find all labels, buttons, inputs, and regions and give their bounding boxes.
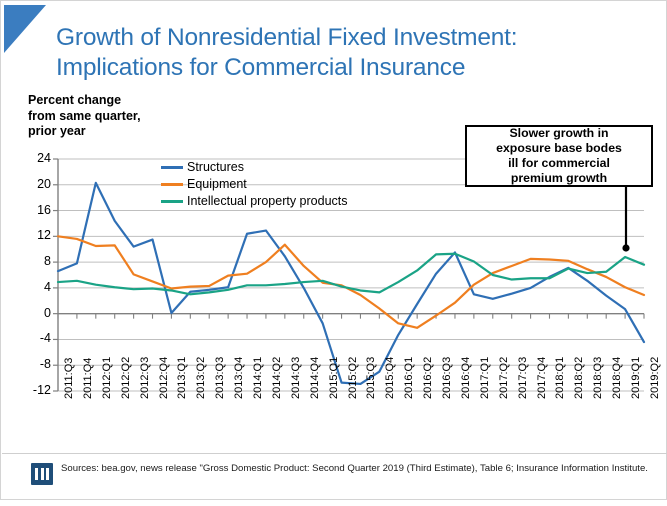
x-tick-label: 2018:Q2 bbox=[573, 357, 585, 399]
x-tick-label: 2018:Q3 bbox=[592, 357, 604, 399]
callout-text: Slower growth in exposure base bodes ill… bbox=[496, 126, 622, 186]
x-tick-label: 2015:Q1 bbox=[328, 357, 340, 399]
x-tick-label: 2018:Q1 bbox=[554, 357, 566, 399]
footer: Sources: bea.gov, news release "Gross Do… bbox=[31, 463, 651, 485]
x-tick-label: 2012:Q1 bbox=[101, 357, 113, 399]
x-tick-label: 2015:Q2 bbox=[347, 357, 359, 399]
line-chart: 24201612840-4-8-12 2011:Q32011:Q42012:Q1… bbox=[1, 1, 667, 501]
x-tick-label: 2017:Q4 bbox=[536, 357, 548, 399]
y-tick-label: 8 bbox=[23, 254, 51, 268]
legend-color-swatch bbox=[161, 166, 183, 169]
legend-color-swatch bbox=[161, 183, 183, 186]
legend-item[interactable]: Structures bbox=[161, 159, 348, 175]
x-tick-label: 2012:Q3 bbox=[139, 357, 151, 399]
x-tick-label: 2017:Q2 bbox=[498, 357, 510, 399]
x-tick-label: 2011:Q3 bbox=[63, 358, 75, 399]
x-tick-label: 2013:Q3 bbox=[214, 357, 226, 399]
x-tick-label: 2013:Q4 bbox=[233, 357, 245, 399]
callout-leader-dot bbox=[622, 244, 629, 251]
legend-label: Intellectual property products bbox=[187, 194, 348, 208]
x-tick-label: 2018:Q4 bbox=[611, 357, 623, 399]
x-tick-label: 2014:Q3 bbox=[290, 357, 302, 399]
x-tick-label: 2013:Q2 bbox=[195, 357, 207, 399]
y-tick-label: -8 bbox=[23, 357, 51, 371]
slide-root: Growth of Nonresidential Fixed Investmen… bbox=[0, 0, 667, 500]
source-note: Sources: bea.gov, news release "Gross Do… bbox=[61, 463, 648, 475]
x-tick-label: 2015:Q3 bbox=[365, 357, 377, 399]
y-tick-label: 0 bbox=[23, 306, 51, 320]
y-tick-label: -12 bbox=[23, 383, 51, 397]
legend-label: Structures bbox=[187, 160, 244, 174]
callout-line-4: premium growth bbox=[496, 171, 622, 186]
legend-item[interactable]: Intellectual property products bbox=[161, 193, 348, 209]
series-line-structures bbox=[58, 183, 644, 384]
x-tick-label: 2014:Q1 bbox=[252, 357, 264, 399]
chart-svg bbox=[1, 1, 667, 501]
chart-legend: StructuresEquipmentIntellectual property… bbox=[161, 159, 348, 210]
x-tick-label: 2016:Q1 bbox=[403, 357, 415, 399]
x-tick-label: 2016:Q4 bbox=[460, 357, 472, 399]
footer-divider bbox=[2, 453, 667, 454]
x-tick-label: 2015:Q4 bbox=[384, 357, 396, 399]
x-tick-label: 2012:Q4 bbox=[158, 357, 170, 399]
x-tick-label: 2014:Q4 bbox=[309, 357, 321, 399]
y-tick-label: 20 bbox=[23, 177, 51, 191]
x-tick-label: 2016:Q2 bbox=[422, 357, 434, 399]
x-tick-label: 2014:Q2 bbox=[271, 357, 283, 399]
y-tick-label: 16 bbox=[23, 203, 51, 217]
x-tick-label: 2019:Q1 bbox=[630, 357, 642, 399]
x-tick-label: 2011:Q4 bbox=[82, 358, 94, 399]
iii-logo-icon bbox=[31, 463, 53, 485]
y-tick-label: 12 bbox=[23, 228, 51, 242]
y-tick-label: -4 bbox=[23, 331, 51, 345]
x-tick-label: 2017:Q3 bbox=[517, 357, 529, 399]
x-tick-label: 2019:Q2 bbox=[649, 357, 661, 399]
x-tick-label: 2013:Q1 bbox=[176, 357, 188, 399]
legend-label: Equipment bbox=[187, 177, 247, 191]
callout-box: Slower growth in exposure base bodes ill… bbox=[465, 125, 653, 187]
callout-line-2: exposure base bodes bbox=[496, 141, 622, 156]
y-tick-label: 4 bbox=[23, 280, 51, 294]
y-tick-label: 24 bbox=[23, 151, 51, 165]
x-tick-label: 2017:Q1 bbox=[479, 357, 491, 399]
legend-item[interactable]: Equipment bbox=[161, 176, 348, 192]
callout-line-3: ill for commercial bbox=[496, 156, 622, 171]
legend-color-swatch bbox=[161, 200, 183, 203]
x-tick-label: 2012:Q2 bbox=[120, 357, 132, 399]
x-tick-label: 2016:Q3 bbox=[441, 357, 453, 399]
callout-line-1: Slower growth in bbox=[496, 126, 622, 141]
